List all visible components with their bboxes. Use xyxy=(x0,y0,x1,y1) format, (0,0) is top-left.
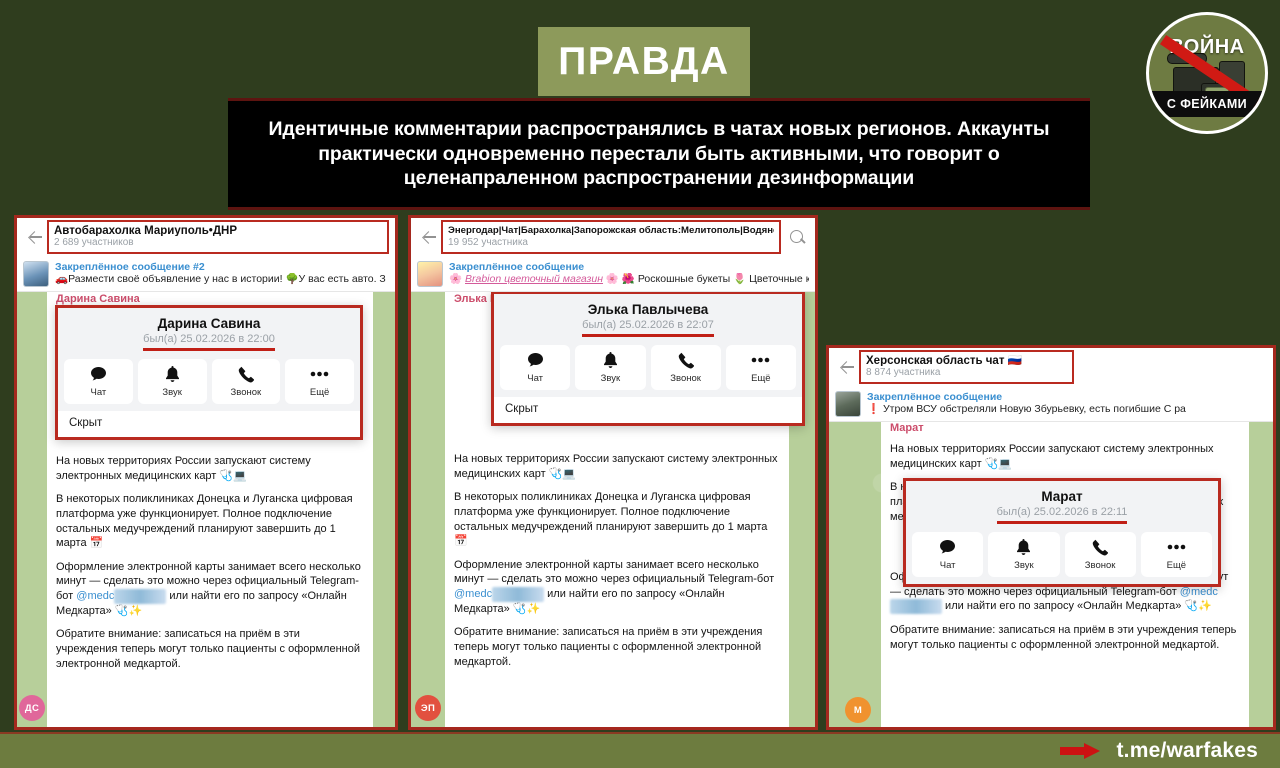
profile-last-seen: был(а) 25.02.2026 в 22:11 xyxy=(997,506,1128,520)
chat-title: Автобарахолка Мариуполь•ДНР xyxy=(54,225,382,236)
pinned-text: 🌸 Brabion цветочный магазин 🌸 🌺 Роскошны… xyxy=(449,273,809,286)
profile-header: Марат был(а) 25.02.2026 в 22:11 xyxy=(906,481,1218,528)
message-author: Дарина Савина xyxy=(56,293,140,305)
profile-action-sound[interactable]: Звук xyxy=(575,345,645,390)
warfakes-logo: ВОЙНА С ФЕЙКАМИ xyxy=(1146,12,1268,134)
profile-name: Марат xyxy=(916,489,1208,505)
message-author: Марат xyxy=(890,422,924,434)
headline-text: Идентичные комментарии распространялись … xyxy=(244,117,1074,191)
profile-action-chat[interactable]: Чат xyxy=(64,359,133,404)
right-arrow-icon xyxy=(1060,743,1102,759)
logo-ribbon-word: С ФЕЙКАМИ xyxy=(1167,97,1247,111)
profile-hidden-status: Скрыт xyxy=(58,411,360,437)
telegram-screenshot-panel-3: Херсонская область чат 🇷🇺 8 874 участник… xyxy=(826,345,1276,730)
phone-icon xyxy=(1092,539,1108,556)
profile-action-call[interactable]: Звонок xyxy=(1065,532,1136,577)
more-dots-icon xyxy=(310,366,329,383)
profile-hidden-status: Скрыт xyxy=(494,397,802,423)
profile-popup-card: Марат был(а) 25.02.2026 в 22:11 Чат xyxy=(903,478,1221,587)
red-underline xyxy=(997,521,1128,524)
message-paragraph-2: В некоторых поликлиниках Донецка и Луган… xyxy=(56,492,364,551)
avatar[interactable]: ЭП xyxy=(415,695,441,721)
chat-bubble-icon xyxy=(90,366,107,383)
telegram-screenshot-panel-2: Энергодар|Чат|Барахолка|Запорожская обла… xyxy=(408,215,818,730)
blurred-handle: xxxxx xyxy=(890,599,942,614)
telegram-screenshot-panel-1: Автобарахолка Мариуполь•ДНР 2 689 участн… xyxy=(14,215,398,730)
chat-header: Энергодар|Чат|Барахолка|Запорожская обла… xyxy=(411,218,815,256)
phone-icon xyxy=(678,352,694,369)
chat-title-block[interactable]: Херсонская область чат 🇷🇺 8 874 участник… xyxy=(859,350,1074,384)
chat-members-count: 8 874 участника xyxy=(866,367,1067,379)
profile-action-label: Звонок xyxy=(231,387,262,398)
profile-popup-card: Элька Павлычева был(а) 25.02.2026 в 22:0… xyxy=(491,292,805,426)
logo-ribbon: С ФЕЙКАМИ xyxy=(1149,91,1265,117)
blurred-handle: xxxxx xyxy=(114,589,166,604)
bot-handle[interactable]: @medc xyxy=(454,588,492,600)
back-arrow-icon[interactable] xyxy=(835,355,859,379)
message-paragraph-1: На новых территориях России запускают си… xyxy=(56,454,364,483)
pinned-title: Закреплённое сообщение #2 xyxy=(55,261,389,274)
pinned-text: 🚗Размести своё объявление у нас в истори… xyxy=(55,273,389,286)
profile-header: Элька Павлычева был(а) 25.02.2026 в 22:0… xyxy=(494,294,802,341)
chat-title: Херсонская область чат 🇷🇺 xyxy=(866,355,1067,366)
pinned-text: ❗ Утром ВСУ обстреляли Новую Збурьевку, … xyxy=(867,403,1267,416)
profile-header: Дарина Савина был(а) 25.02.2026 в 22:00 xyxy=(58,308,360,355)
profile-name: Дарина Савина xyxy=(68,316,350,332)
chat-bubble-icon xyxy=(939,539,956,556)
profile-actions: Чат Звук Звонок Ещё xyxy=(58,355,360,411)
bell-icon xyxy=(1016,539,1031,556)
red-underline xyxy=(143,348,275,351)
phone-icon xyxy=(238,366,254,383)
profile-action-label: Звук xyxy=(601,373,620,384)
pinned-title: Закреплённое сообщение xyxy=(867,391,1267,404)
profile-actions: Чат Звук Звонок Ещё xyxy=(494,341,802,397)
pinned-message[interactable]: Закреплённое сообщение #2 🚗Размести своё… xyxy=(17,256,395,292)
chat-header: Автобарахолка Мариуполь•ДНР 2 689 участн… xyxy=(17,218,395,256)
chat-members-count: 19 952 участника xyxy=(448,237,774,249)
chat-title-block[interactable]: Энергодар|Чат|Барахолка|Запорожская обла… xyxy=(441,220,781,254)
poster-stage: ПРАВДА Идентичные комментарии распростра… xyxy=(0,0,1280,768)
profile-action-call[interactable]: Звонок xyxy=(651,345,721,390)
pravda-badge: ПРАВДА xyxy=(538,27,750,96)
chat-body: Элька Павлычева На новых территориях Рос… xyxy=(411,292,815,727)
red-underline xyxy=(582,334,714,337)
pinned-message[interactable]: Закреплённое сообщение 🌸 Brabion цветочн… xyxy=(411,256,815,292)
more-dots-icon xyxy=(1167,539,1186,556)
pinned-thumbnail xyxy=(835,391,861,417)
pinned-message[interactable]: Закреплённое сообщение ❗ Утром ВСУ обстр… xyxy=(829,386,1273,422)
message-paragraph-4: Обратите внимание: записаться на приём в… xyxy=(56,627,364,671)
back-arrow-icon[interactable] xyxy=(417,225,441,249)
profile-action-chat[interactable]: Чат xyxy=(912,532,983,577)
message-paragraph-3: Оформление электронной карты занимает вс… xyxy=(56,560,364,619)
chat-title-block[interactable]: Автобарахолка Мариуполь•ДНР 2 689 участн… xyxy=(47,220,389,254)
search-icon[interactable] xyxy=(785,225,809,249)
profile-last-seen: был(а) 25.02.2026 в 22:00 xyxy=(143,333,275,347)
avatar[interactable]: ДС xyxy=(19,695,45,721)
message-paragraph-3: Оформление электронной карты занимает вс… xyxy=(454,558,780,617)
pinned-shop-link[interactable]: Brabion цветочный магазин xyxy=(465,273,603,285)
profile-action-label: Ещё xyxy=(1167,560,1186,571)
message-paragraph-4: Обратите внимание: записаться на приём в… xyxy=(454,625,780,669)
profile-action-label: Звук xyxy=(162,387,181,398)
chat-bubble-icon xyxy=(527,352,544,369)
blurred-handle: xxxxx xyxy=(492,587,544,602)
profile-actions: Чат Звук Звонок Ещё xyxy=(906,528,1218,584)
profile-action-more[interactable]: Ещё xyxy=(285,359,354,404)
message-paragraph-4: Обратите внимание: записаться на приём в… xyxy=(890,623,1240,652)
pravda-badge-label: ПРАВДА xyxy=(558,40,729,84)
chat-title: Энергодар|Чат|Барахолка|Запорожская обла… xyxy=(448,225,774,236)
back-arrow-icon[interactable] xyxy=(23,225,47,249)
message-paragraph-2: В некоторых поликлиниках Донецка и Луган… xyxy=(454,490,780,549)
profile-action-sound[interactable]: Звук xyxy=(138,359,207,404)
profile-action-label: Ещё xyxy=(751,373,770,384)
message-paragraph-1: На новых территориях России запускают си… xyxy=(454,452,780,481)
footer-band: t.me/warfakes xyxy=(0,732,1280,768)
headline-box: Идентичные комментарии распространялись … xyxy=(228,98,1090,210)
profile-action-call[interactable]: Звонок xyxy=(212,359,281,404)
bell-icon xyxy=(165,366,180,383)
profile-action-chat[interactable]: Чат xyxy=(500,345,570,390)
profile-action-label: Звонок xyxy=(670,373,701,384)
profile-action-label: Чат xyxy=(940,560,956,571)
profile-action-more[interactable]: Ещё xyxy=(1141,532,1212,577)
telegram-channel-link[interactable]: t.me/warfakes xyxy=(1116,739,1258,763)
profile-popup-card: Дарина Савина был(а) 25.02.2026 в 22:00 … xyxy=(55,305,363,440)
profile-name: Элька Павлычева xyxy=(504,302,792,318)
message-paragraph-1: На новых территориях России запускают си… xyxy=(890,442,1240,471)
pinned-title: Закреплённое сообщение xyxy=(449,261,809,274)
more-dots-icon xyxy=(751,352,770,369)
bot-handle[interactable]: @medc xyxy=(76,590,114,602)
chat-body: Марат На новых территориях России запуск… xyxy=(829,422,1273,727)
profile-action-label: Чат xyxy=(527,373,543,384)
pinned-thumbnail xyxy=(417,261,443,287)
chat-header: Херсонская область чат 🇷🇺 8 874 участник… xyxy=(829,348,1273,386)
pinned-tail: 🌸 🌺 Роскошные букеты 🌷 Цветочные компози… xyxy=(606,273,809,285)
profile-action-label: Чат xyxy=(90,387,106,398)
profile-last-seen: был(а) 25.02.2026 в 22:07 xyxy=(582,319,714,333)
avatar[interactable]: М xyxy=(845,697,871,723)
pinned-thumbnail xyxy=(23,261,49,287)
profile-action-more[interactable]: Ещё xyxy=(726,345,796,390)
chat-members-count: 2 689 участников xyxy=(54,237,382,249)
bell-icon xyxy=(603,352,618,369)
profile-action-sound[interactable]: Звук xyxy=(988,532,1059,577)
chat-body: Дарина Савина На новых территориях Росси… xyxy=(17,292,395,727)
profile-action-label: Ещё xyxy=(310,387,329,398)
bot-handle[interactable]: @medc xyxy=(1180,586,1218,598)
profile-action-label: Звук xyxy=(1014,560,1033,571)
profile-action-label: Звонок xyxy=(1085,560,1116,571)
